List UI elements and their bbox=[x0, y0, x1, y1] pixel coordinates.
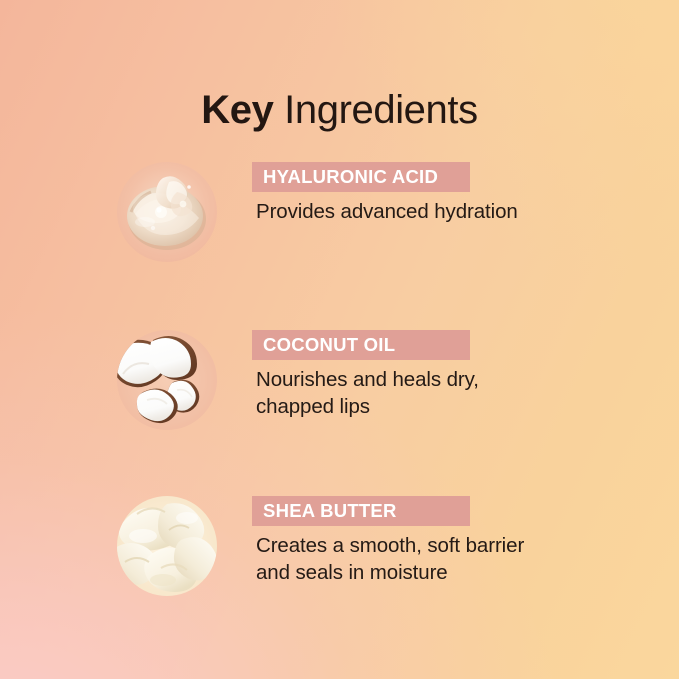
shea-butter-chunks-photo bbox=[117, 496, 217, 596]
ingredient-row: COCONUT OIL Nourishes and heals dry, cha… bbox=[0, 330, 679, 438]
ingredient-text-block: HYALURONIC ACID Provides advanced hydrat… bbox=[252, 162, 652, 225]
ingredient-name-badge: HYALURONIC ACID bbox=[252, 162, 470, 192]
key-ingredients-poster: Key Ingredients bbox=[0, 0, 679, 679]
ingredient-text-block: COCONUT OIL Nourishes and heals dry, cha… bbox=[252, 330, 652, 420]
page-title-light: Ingredients bbox=[273, 88, 477, 132]
ingredient-description: Nourishes and heals dry, chapped lips bbox=[256, 366, 652, 420]
ingredient-row: SHEA BUTTER Creates a smooth, soft barri… bbox=[0, 496, 679, 604]
ingredient-description: Provides advanced hydration bbox=[256, 198, 652, 225]
ingredient-name-badge: COCONUT OIL bbox=[252, 330, 470, 360]
ingredient-name-badge: SHEA BUTTER bbox=[252, 496, 470, 526]
coconut-pieces-photo bbox=[117, 330, 217, 430]
page-title-strong: Key bbox=[201, 88, 273, 132]
coconut-oil-thumbnail bbox=[117, 330, 217, 430]
ingredient-row: HYALURONIC ACID Provides advanced hydrat… bbox=[0, 162, 679, 270]
hyaluronic-acid-thumbnail bbox=[117, 162, 217, 262]
ingredient-text-block: SHEA BUTTER Creates a smooth, soft barri… bbox=[252, 496, 652, 586]
page-title: Key Ingredients bbox=[0, 85, 679, 135]
poster-content: Key Ingredients bbox=[0, 0, 679, 679]
hyaluronic-acid-gel-drop-photo bbox=[117, 162, 217, 262]
shea-butter-thumbnail bbox=[117, 496, 217, 596]
ingredient-description: Creates a smooth, soft barrier and seals… bbox=[256, 532, 652, 586]
